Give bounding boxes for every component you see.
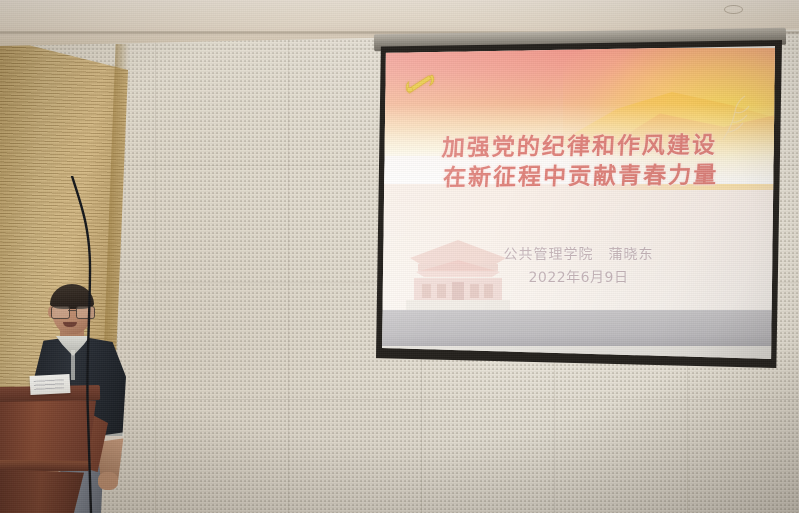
slide-date: 2022年6月9日 xyxy=(382,267,775,290)
lecture-hall-photo: 加强党的纪律和作风建设 在新征程中贡献青春力量 公共管理学院 蒲晓东 2022年… xyxy=(0,0,799,513)
slide-affiliation: 公共管理学院 蒲晓东 xyxy=(382,244,775,267)
podium xyxy=(0,386,104,513)
ceiling-fixture-icon xyxy=(724,5,743,14)
papers-text-lines xyxy=(34,379,64,390)
glasses-lens-left xyxy=(51,306,70,319)
slide-title: 加强党的纪律和作风建设 在新征程中贡献青春力量 xyxy=(382,130,775,194)
speaker-glasses-icon xyxy=(50,306,95,317)
screen-unprojected-band xyxy=(382,310,775,346)
podium-trim xyxy=(0,460,92,471)
cpc-hammer-sickle-icon xyxy=(402,70,438,98)
glasses-lens-right xyxy=(76,306,95,319)
podium-base xyxy=(0,469,84,513)
speaker-shirt-placket xyxy=(71,350,75,380)
podium-body xyxy=(0,398,96,464)
slide-title-line-1: 加强党的纪律和作风建设 xyxy=(382,130,775,164)
slide-subtitle: 公共管理学院 蒲晓东 2022年6月9日 xyxy=(382,244,775,290)
slide-title-line-2: 在新征程中贡献青春力量 xyxy=(386,160,775,194)
presentation-slide: 加强党的纪律和作风建设 在新征程中贡献青春力量 公共管理学院 蒲晓东 2022年… xyxy=(382,48,775,310)
projection-screen-surface: 加强党的纪律和作风建设 在新征程中贡献青春力量 公共管理学院 蒲晓东 2022年… xyxy=(382,46,775,359)
podium-papers xyxy=(30,374,71,395)
glasses-bridge xyxy=(68,310,76,311)
